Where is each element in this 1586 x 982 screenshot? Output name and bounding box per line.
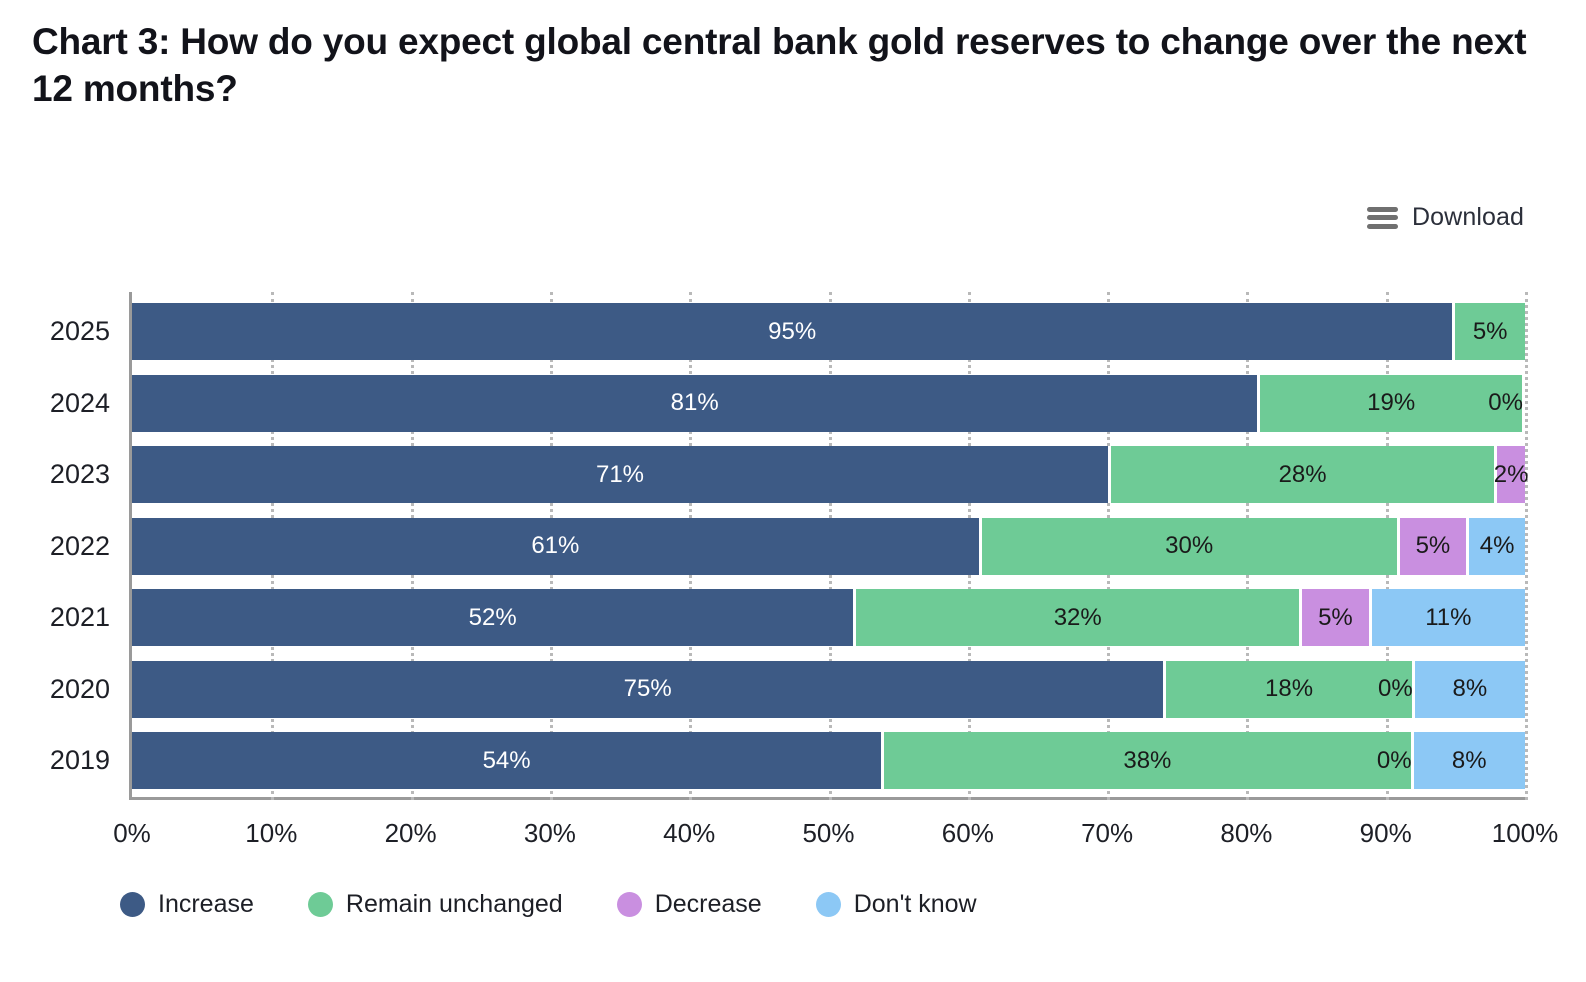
legend-item-decrease[interactable]: Decrease — [617, 890, 762, 919]
bar-segment-value-label: 19% — [1367, 389, 1415, 417]
download-button[interactable]: Download — [1367, 203, 1524, 232]
bar-segment-increase[interactable]: 52% — [132, 589, 856, 646]
chart-row: 202371%28%2% — [132, 446, 1525, 503]
stacked-bar: 61%30%5%4% — [132, 518, 1525, 575]
x-tick-label: 70% — [1081, 818, 1133, 849]
x-tick-label: 10% — [245, 818, 297, 849]
bar-segment-dont-know[interactable]: 8% — [1415, 661, 1525, 718]
bar-segment-value-label: 5% — [1318, 604, 1353, 632]
x-tick-label: 100% — [1492, 818, 1559, 849]
legend-item-remain-unchanged[interactable]: Remain unchanged — [308, 890, 563, 919]
chart-title: Chart 3: How do you expect global centra… — [32, 18, 1532, 113]
download-button-label: Download — [1412, 203, 1524, 232]
bar-segment-increase[interactable]: 95% — [132, 303, 1455, 360]
bar-segment-decrease[interactable]: 2% — [1497, 446, 1525, 503]
bar-segment-value-label: 75% — [624, 675, 672, 703]
bar-segment-remain-unchanged[interactable]: 30% — [982, 518, 1400, 575]
bar-segment-value-label: 0% — [1488, 389, 1523, 417]
bar-segment-decrease[interactable]: 5% — [1400, 518, 1470, 575]
legend-item-label: Don't know — [854, 890, 977, 919]
chart-row: 202481%19%0% — [132, 375, 1525, 432]
x-axis-tick-labels: 0%10%20%30%40%50%60%70%80%90%100% — [132, 818, 1525, 858]
stacked-bar: 75%18%0%8% — [132, 661, 1525, 718]
bar-segment-value-label: 11% — [1425, 604, 1471, 632]
x-tick-label: 60% — [942, 818, 994, 849]
y-axis-category-label: 2021 — [0, 589, 110, 646]
x-tick-label: 0% — [113, 818, 151, 849]
chart-plot-area: 202595%5%202481%19%0%202371%28%2%202261%… — [132, 292, 1525, 800]
bar-segment-value-label: 2% — [1494, 461, 1529, 489]
bar-segment-value-label: 0% — [1377, 747, 1412, 775]
bar-segment-value-label: 0% — [1378, 675, 1413, 703]
stacked-bar: 54%38%0%8% — [132, 732, 1525, 789]
bar-segment-value-label: 38% — [1123, 747, 1171, 775]
bar-segment-increase[interactable]: 81% — [132, 375, 1260, 432]
bar-segment-increase[interactable]: 54% — [132, 732, 884, 789]
bar-segment-value-label: 54% — [483, 747, 531, 775]
stacked-bar: 52%32%5%11% — [132, 589, 1525, 646]
gridline-100 — [1525, 292, 1528, 800]
chart-row: 202595%5% — [132, 303, 1525, 360]
legend-item-label: Increase — [158, 890, 254, 919]
bar-segment-value-label: 71% — [596, 461, 644, 489]
legend-swatch-icon — [617, 892, 642, 917]
y-axis-category-label: 2023 — [0, 446, 110, 503]
bar-segment-value-label: 30% — [1165, 532, 1213, 560]
legend-swatch-icon — [816, 892, 841, 917]
x-tick-label: 50% — [802, 818, 854, 849]
y-axis-category-label: 2025 — [0, 303, 110, 360]
y-axis-category-label: 2024 — [0, 375, 110, 432]
bar-segment-remain-unchanged[interactable]: 38% — [884, 732, 1413, 789]
chart-row: 202152%32%5%11% — [132, 589, 1525, 646]
bar-segment-increase[interactable]: 61% — [132, 518, 982, 575]
legend-swatch-icon — [308, 892, 333, 917]
bar-segment-value-label: 8% — [1452, 747, 1487, 775]
y-axis-category-label: 2022 — [0, 518, 110, 575]
bar-segment-increase[interactable]: 71% — [132, 446, 1111, 503]
hamburger-menu-icon — [1367, 207, 1398, 229]
chart-legend: IncreaseRemain unchangedDecreaseDon't kn… — [120, 890, 1031, 919]
x-tick-label: 80% — [1220, 818, 1272, 849]
bar-segment-value-label: 32% — [1054, 604, 1102, 632]
x-tick-label: 90% — [1360, 818, 1412, 849]
legend-item-increase[interactable]: Increase — [120, 890, 254, 919]
bar-segment-value-label: 28% — [1279, 461, 1327, 489]
y-axis-category-label: 2020 — [0, 661, 110, 718]
stacked-bar: 81%19%0% — [132, 375, 1525, 432]
bar-segment-remain-unchanged[interactable]: 32% — [856, 589, 1302, 646]
chart-row: 202261%30%5%4% — [132, 518, 1525, 575]
bar-segment-remain-unchanged[interactable]: 28% — [1111, 446, 1497, 503]
chart-bar-rows: 202595%5%202481%19%0%202371%28%2%202261%… — [132, 292, 1525, 797]
bar-segment-dont-know[interactable]: 4% — [1469, 518, 1525, 575]
y-axis-category-label: 2019 — [0, 732, 110, 789]
stacked-bar: 71%28%2% — [132, 446, 1525, 503]
legend-swatch-icon — [120, 892, 145, 917]
bar-segment-dont-know[interactable]: 11% — [1372, 589, 1525, 646]
stacked-bar: 95%5% — [132, 303, 1525, 360]
legend-item-label: Decrease — [655, 890, 762, 919]
x-tick-label: 40% — [663, 818, 715, 849]
bar-segment-remain-unchanged[interactable]: 19% — [1260, 375, 1525, 432]
bar-segment-increase[interactable]: 75% — [132, 661, 1166, 718]
bar-segment-value-label: 18% — [1265, 675, 1313, 703]
legend-item-don-t-know[interactable]: Don't know — [816, 890, 977, 919]
x-axis-line — [129, 797, 1525, 800]
bar-segment-value-label: 95% — [768, 318, 816, 346]
bar-segment-value-label: 81% — [671, 389, 719, 417]
bar-segment-value-label: 5% — [1473, 318, 1508, 346]
chart-row: 201954%38%0%8% — [132, 732, 1525, 789]
bar-segment-decrease[interactable]: 5% — [1302, 589, 1372, 646]
x-tick-label: 30% — [524, 818, 576, 849]
bar-segment-value-label: 52% — [469, 604, 517, 632]
bar-segment-value-label: 61% — [531, 532, 579, 560]
bar-segment-value-label: 8% — [1452, 675, 1487, 703]
legend-item-label: Remain unchanged — [346, 890, 563, 919]
bar-segment-value-label: 4% — [1480, 532, 1515, 560]
bar-segment-value-label: 5% — [1416, 532, 1451, 560]
x-tick-label: 20% — [385, 818, 437, 849]
chart-row: 202075%18%0%8% — [132, 661, 1525, 718]
bar-segment-remain-unchanged[interactable]: 5% — [1455, 303, 1525, 360]
bar-segment-dont-know[interactable]: 8% — [1414, 732, 1525, 789]
